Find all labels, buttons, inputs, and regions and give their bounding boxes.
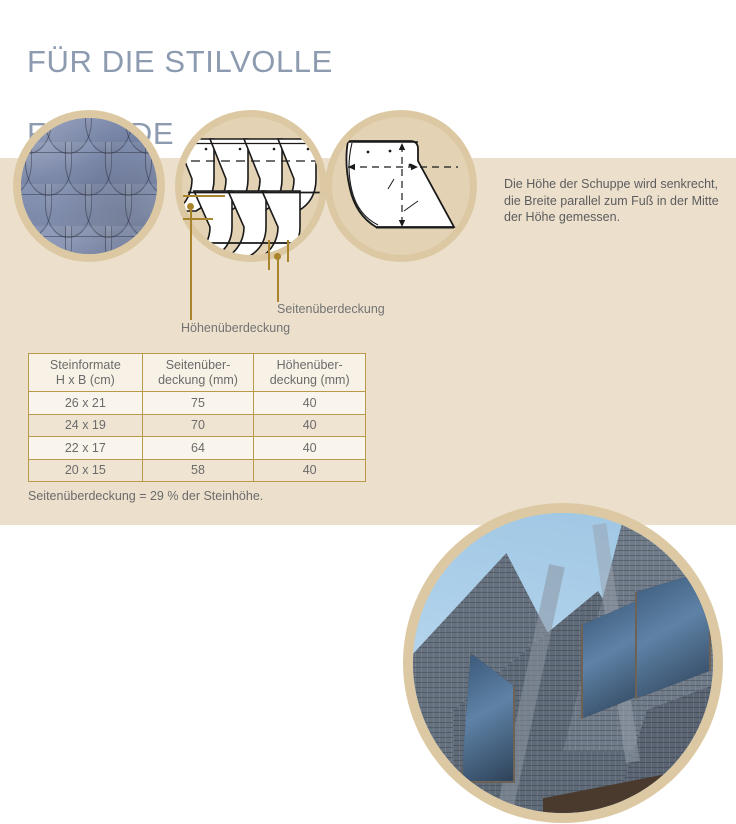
- callout-label-hoehenueberdeckung: Höhenüberdeckung: [181, 321, 290, 335]
- table-cell-r0-c2: 40: [254, 392, 366, 415]
- facade-photo: [21, 118, 157, 254]
- table-cell-r0-c1: 75: [142, 392, 254, 415]
- table-row: 26 x 217540: [29, 392, 366, 415]
- table-cell-r1-c0: 24 x 19: [29, 414, 143, 437]
- table-cell-r3-c2: 40: [254, 459, 366, 482]
- col-header-steinformate: SteinformateH x B (cm): [29, 354, 143, 392]
- spec-table: SteinformateH x B (cm) Seitenüber-deckun…: [28, 353, 366, 482]
- table-row: 24 x 197040: [29, 414, 366, 437]
- leader-line-seitenueberdeckung-drop: [277, 256, 279, 302]
- table-cell-r2-c1: 64: [142, 437, 254, 460]
- table-cell-r1-c2: 40: [254, 414, 366, 437]
- table-cell-r3-c0: 20 x 15: [29, 459, 143, 482]
- table-cell-r1-c1: 70: [142, 414, 254, 437]
- table-footnote: Seitenüberdeckung = 29 % der Steinhöhe.: [28, 489, 263, 503]
- spec-table-wrapper: SteinformateH x B (cm) Seitenüber-deckun…: [28, 353, 366, 482]
- table-cell-r0-c0: 26 x 21: [29, 392, 143, 415]
- roof-photo: [413, 513, 713, 813]
- table-row: 20 x 155840: [29, 459, 366, 482]
- side-description-text: Die Höhe der Schuppe wird senkrecht, die…: [504, 176, 732, 226]
- table-cell-r2-c0: 22 x 17: [29, 437, 143, 460]
- table-header-row: SteinformateH x B (cm) Seitenüber-deckun…: [29, 354, 366, 392]
- leader-line-hoehenueberdeckung-bottom: [183, 218, 213, 220]
- leader-line-hoehenueberdeckung-top: [183, 195, 225, 197]
- table-cell-r2-c2: 40: [254, 437, 366, 460]
- single-scale-diagram: [332, 117, 470, 255]
- overlap-diagram: [182, 117, 320, 255]
- table-cell-r3-c1: 58: [142, 459, 254, 482]
- col-header-seitenueberdeckung: Seitenüber-deckung (mm): [142, 354, 254, 392]
- spec-table-body: 26 x 21754024 x 19704022 x 17644020 x 15…: [29, 392, 366, 482]
- callout-label-seitenueberdeckung: Seitenüberdeckung: [277, 302, 385, 316]
- leader-tick-seitenueberdeckung-right: [287, 240, 289, 262]
- spec-table-head: SteinformateH x B (cm) Seitenüber-deckun…: [29, 354, 366, 392]
- single-scale-svg: [332, 117, 470, 255]
- leader-line-hoehenueberdeckung-drop: [190, 206, 192, 320]
- table-row: 22 x 176440: [29, 437, 366, 460]
- overlap-diagram-svg: [182, 117, 320, 255]
- leader-tick-seitenueberdeckung-left: [268, 240, 270, 270]
- page-root: FÜR DIE STILVOLLE FASSADE: [0, 0, 736, 824]
- col-header-hoehenueberdeckung: Höhenüber-deckung (mm): [254, 354, 366, 392]
- page-title-line1: FÜR DIE STILVOLLE: [27, 44, 457, 80]
